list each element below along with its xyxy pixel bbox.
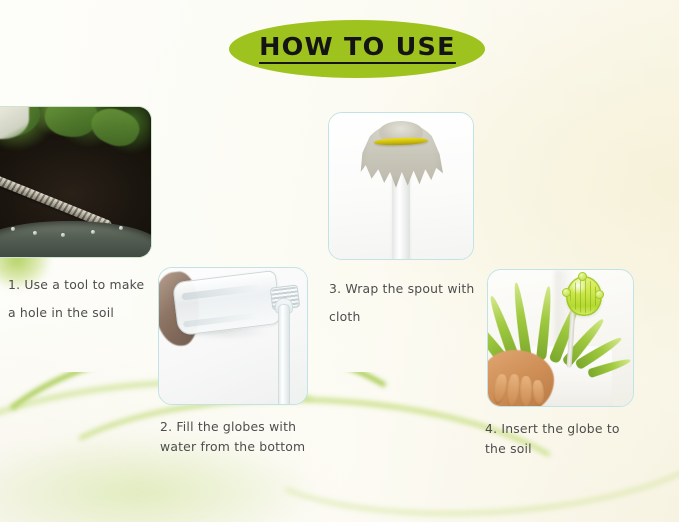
step-1-photo [0,106,152,258]
step-3-photo [328,112,474,260]
water-droplet [91,230,95,234]
caption-line: 1. Use a tool to make [8,277,144,292]
caption-line: cloth [329,309,474,324]
how-to-use-infographic: HOW TO USE 1. Use a tool to make a hole … [0,0,679,522]
step-4-photo [487,269,634,407]
finger [520,376,532,407]
globe-tube [278,304,290,405]
step-2-caption: 2. Fill the globes with water from the b… [160,419,305,454]
caption-line: 3. Wrap the spout with [329,281,474,296]
water-droplet [119,226,123,230]
page-title: HOW TO USE [259,34,456,64]
step-4-image [487,269,634,407]
caption-line: water from the bottom [160,439,305,454]
pot-rim [0,221,152,258]
water-droplet [11,227,15,231]
step-2-photo [158,267,308,405]
step-3-caption: 3. Wrap the spout with cloth [329,281,474,324]
water-droplet [33,231,37,235]
step-2-image [158,267,308,405]
globe-nub [578,272,587,281]
caption-line: a hole in the soil [8,305,144,320]
step-1-image [0,106,152,258]
step-4-caption: 4. Insert the globe to the soil [485,421,620,456]
water-droplet [61,233,65,237]
step-3-image [328,112,474,260]
globe-nub [562,288,571,297]
title-pill: HOW TO USE [229,20,485,78]
step-1-caption: 1. Use a tool to make a hole in the soil [8,277,144,320]
caption-line: 4. Insert the globe to [485,421,620,436]
caption-line: the soil [485,441,620,456]
caption-line: 2. Fill the globes with [160,419,305,434]
